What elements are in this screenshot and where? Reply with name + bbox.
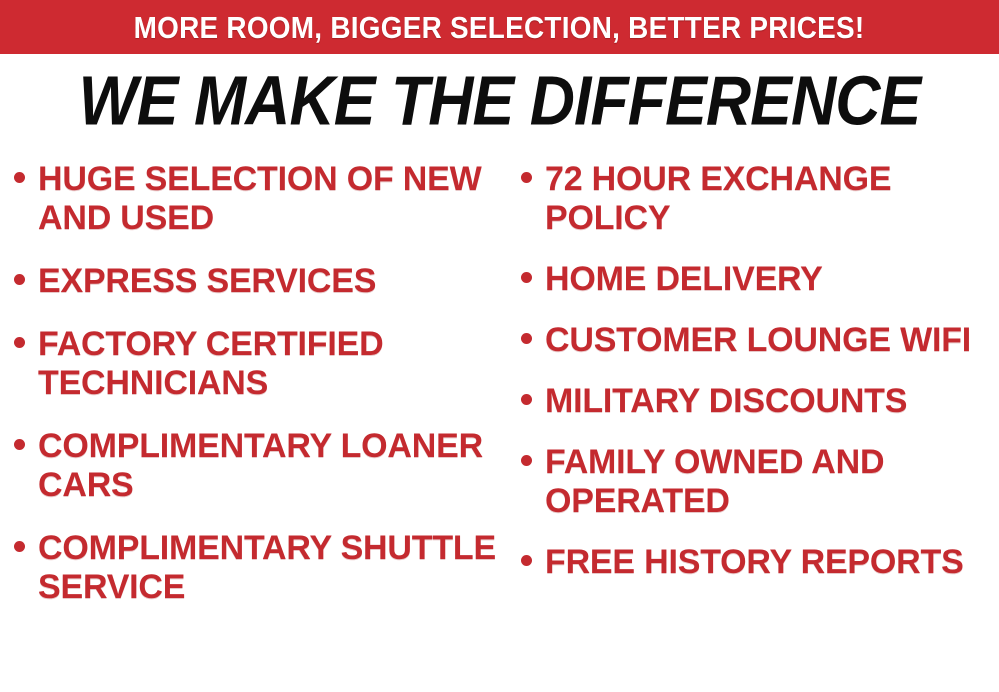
benefit-label: FREE HISTORY REPORTS [545, 543, 999, 582]
bullet-icon [14, 274, 25, 285]
bullet-icon [521, 272, 532, 283]
bullet-icon [14, 337, 25, 348]
benefit-item: COMPLIMENTARY SHUTTLE SERVICE [14, 529, 501, 607]
benefit-item: HUGE SELECTION OF NEW AND USED [14, 160, 501, 238]
benefit-item: HOME DELIVERY [521, 260, 999, 299]
bullet-icon [521, 555, 532, 566]
bullet-icon [14, 541, 25, 552]
benefit-label: COMPLIMENTARY LOANER CARS [38, 427, 501, 505]
benefits-column-right: 72 HOUR EXCHANGE POLICY HOME DELIVERY CU… [505, 160, 999, 604]
benefit-item: MILITARY DISCOUNTS [521, 382, 999, 421]
benefit-label: FACTORY CERTIFIED TECHNICIANS [38, 325, 501, 403]
bullet-icon [521, 394, 532, 405]
headline: WE MAKE THE DIFFERENCE [0, 66, 999, 136]
benefit-label: CUSTOMER LOUNGE WIFI [545, 321, 999, 360]
benefit-label: HUGE SELECTION OF NEW AND USED [38, 160, 501, 238]
benefit-item: CUSTOMER LOUNGE WIFI [521, 321, 999, 360]
benefit-item: FAMILY OWNED AND OPERATED [521, 443, 999, 521]
bullet-icon [521, 172, 532, 183]
benefit-item: FREE HISTORY REPORTS [521, 543, 999, 582]
benefit-item: COMPLIMENTARY LOANER CARS [14, 427, 501, 505]
bullet-icon [14, 172, 25, 183]
benefit-item: 72 HOUR EXCHANGE POLICY [521, 160, 999, 238]
benefit-label: HOME DELIVERY [545, 260, 999, 299]
bullet-icon [14, 439, 25, 450]
benefit-label: FAMILY OWNED AND OPERATED [545, 443, 999, 521]
benefit-item: FACTORY CERTIFIED TECHNICIANS [14, 325, 501, 403]
headline-text: WE MAKE THE DIFFERENCE [79, 65, 921, 137]
promo-banner-text: MORE ROOM, BIGGER SELECTION, BETTER PRIC… [134, 12, 865, 43]
benefit-label: 72 HOUR EXCHANGE POLICY [545, 160, 999, 238]
benefit-item: EXPRESS SERVICES [14, 262, 501, 301]
benefit-label: COMPLIMENTARY SHUTTLE SERVICE [38, 529, 501, 607]
bullet-icon [521, 455, 532, 466]
benefit-label: EXPRESS SERVICES [38, 262, 501, 301]
benefits-column-left: HUGE SELECTION OF NEW AND USED EXPRESS S… [0, 160, 505, 631]
benefit-label: MILITARY DISCOUNTS [545, 382, 999, 421]
bullet-icon [521, 333, 532, 344]
promo-banner: MORE ROOM, BIGGER SELECTION, BETTER PRIC… [0, 0, 999, 54]
benefits-section: HUGE SELECTION OF NEW AND USED EXPRESS S… [0, 160, 999, 692]
